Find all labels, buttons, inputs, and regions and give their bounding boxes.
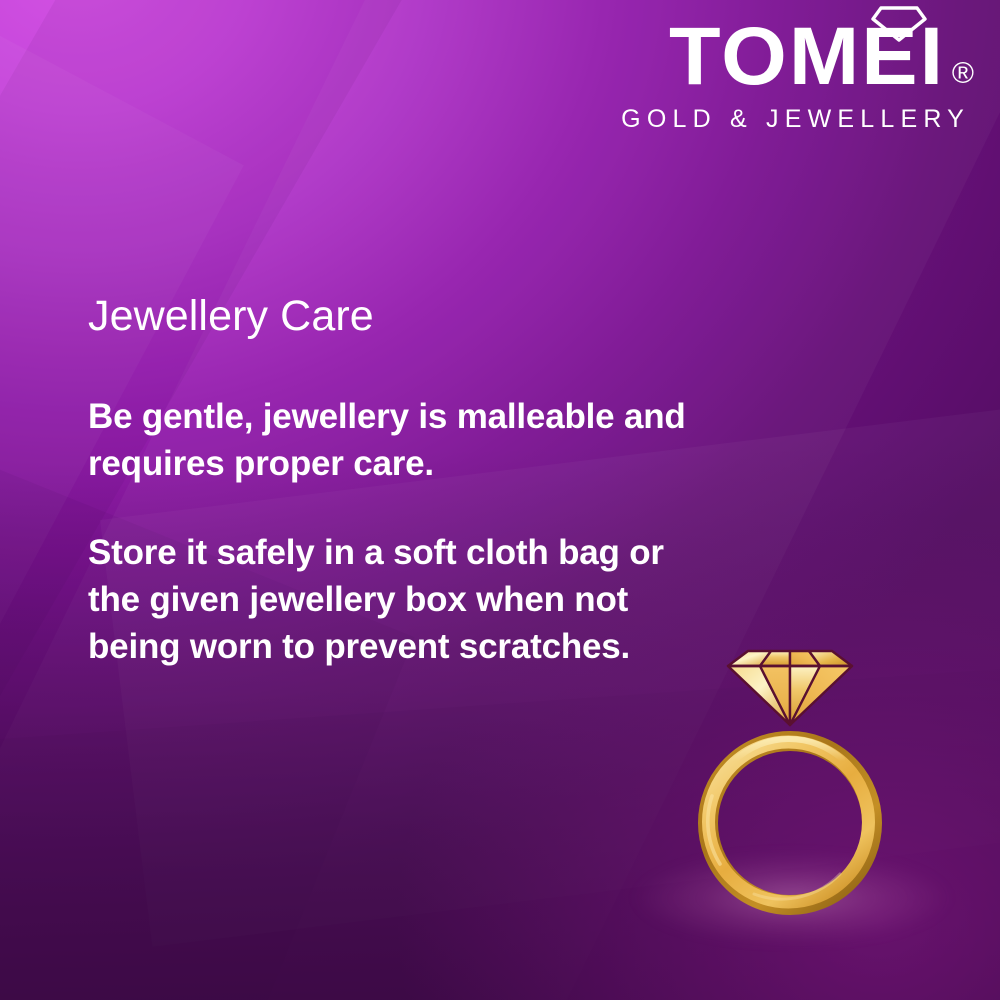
diamond-ring-illustration [690,628,890,918]
ring-band-icon [708,739,872,905]
brand-logo: TOMEI ® GOLD & JEWELLERY [621,18,974,132]
page-title: Jewellery Care [88,292,688,341]
brand-wordmark: TOMEI [669,18,945,97]
content-block: Jewellery Care Be gentle, jewellery is m… [88,292,688,670]
brand-wordmark-row: TOMEI ® [621,18,974,97]
care-paragraph: Store it safely in a soft cloth bag or t… [88,529,688,670]
poster-canvas: TOMEI ® GOLD & JEWELLERY Jewellery Care … [0,0,1000,1000]
gem-icon [728,651,852,725]
registered-trademark-symbol: ® [952,59,974,97]
brand-tagline: GOLD & JEWELLERY [621,107,974,132]
care-paragraph: Be gentle, jewellery is malleable and re… [88,393,688,487]
